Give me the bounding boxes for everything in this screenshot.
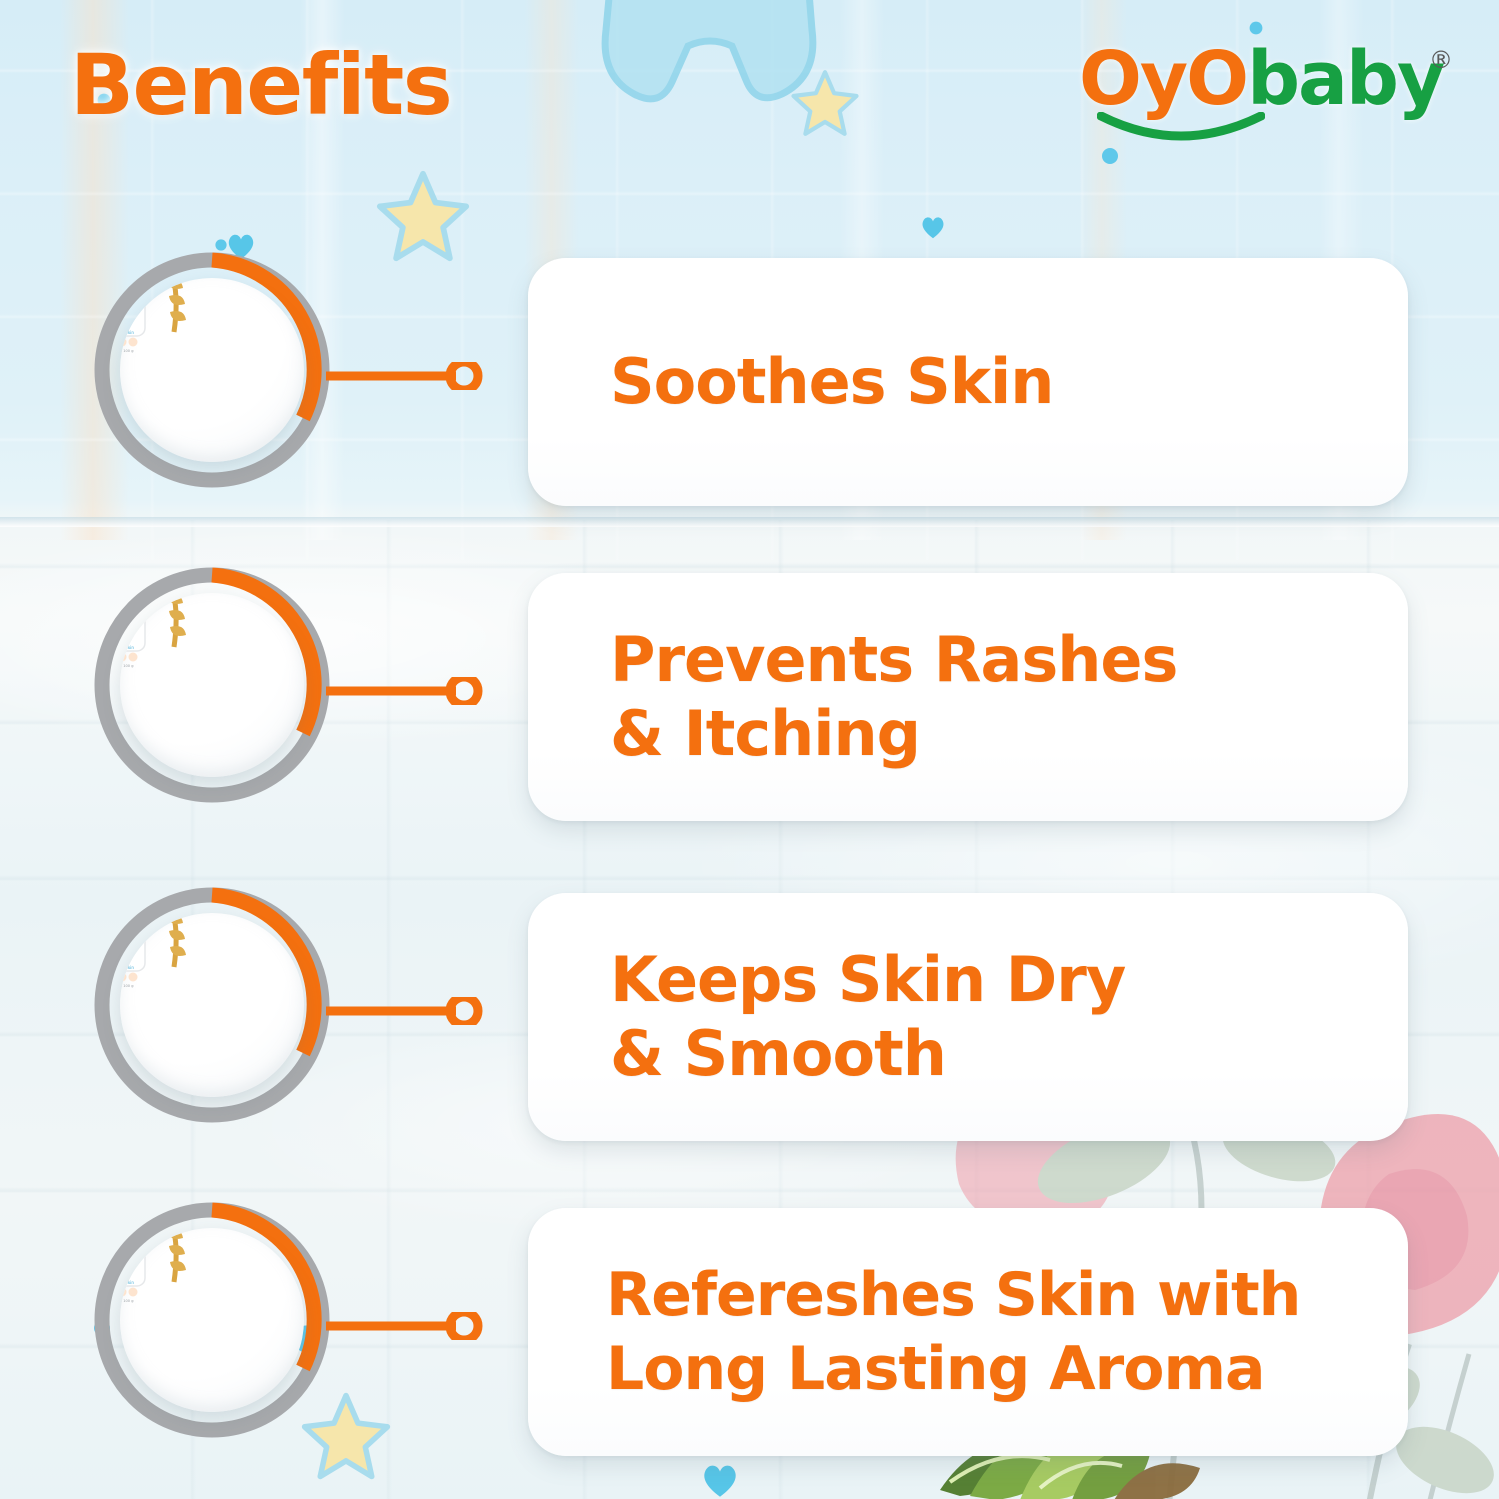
benefit-row: OyO Baby Powder with oats & herbs Talc F… — [0, 565, 1499, 825]
benefit-card[interactable]: Soothes Skin — [528, 258, 1408, 506]
heart-icon — [920, 215, 946, 244]
brand-logo: OyObaby ® — [1079, 40, 1451, 144]
benefit-text: Refereshes Skin with Long Lasting Aroma — [528, 1258, 1300, 1406]
benefit-badge: OyO b Baby Powder with oats & herbs Talc… — [88, 246, 336, 494]
benefit-text: Prevents Rashes & Itching — [528, 623, 1177, 771]
benefit-row: OyO Baby Powder with oats & herbs Talc F… — [0, 1200, 1499, 1460]
svg-text:Powder: Powder — [120, 920, 145, 933]
heart-icon — [700, 1462, 740, 1499]
benefit-badge: OyO Baby Powder with oats & herbs Talc F… — [88, 561, 336, 809]
product-bottle-circle: OyO Baby Powder with oats & herbs Talc F… — [120, 1228, 304, 1412]
svg-text:Powder: Powder — [120, 285, 145, 298]
svg-text:Net Wt. 100 g: Net Wt. 100 g — [120, 349, 133, 353]
baby-powder-bottle: OyO Baby Powder with oats & herbs Talc F… — [120, 1228, 206, 1314]
benefit-text: Keeps Skin Dry & Smooth — [528, 943, 1125, 1091]
svg-text:Talc Free: Talc Free — [120, 1274, 130, 1279]
benefit-card[interactable]: Refereshes Skin with Long Lasting Aroma — [528, 1208, 1408, 1456]
smile-swoosh-icon — [1097, 112, 1265, 153]
connector-dot-ring — [326, 1312, 486, 1336]
benefit-card[interactable]: Prevents Rashes & Itching — [528, 573, 1408, 821]
product-bottle-circle: OyO Baby Powder with oats & herbs Talc F… — [120, 593, 304, 777]
svg-text:Talc Free: Talc Free — [120, 639, 130, 644]
svg-text:Soothes Skin: Soothes Skin — [120, 965, 134, 970]
svg-text:Talc Free: Talc Free — [120, 959, 130, 964]
star-icon — [790, 68, 860, 143]
benefit-row: OyO b Baby Powder with oats & herbs Talc… — [0, 250, 1499, 510]
product-bottle-circle: OyO Baby Powder with oats & herbs Talc F… — [120, 913, 304, 1097]
svg-text:Net Wt. 100 g: Net Wt. 100 g — [120, 1299, 133, 1303]
benefit-card[interactable]: Keeps Skin Dry & Smooth — [528, 893, 1408, 1141]
svg-text:with oats & herbs: with oats & herbs — [120, 298, 142, 304]
svg-text:with oats & herbs: with oats & herbs — [120, 933, 142, 939]
benefit-badge: OyO Baby Powder with oats & herbs Talc F… — [88, 1196, 336, 1444]
svg-text:with oats & herbs: with oats & herbs — [120, 613, 142, 619]
svg-text:Talc Free: Talc Free — [120, 324, 130, 329]
svg-text:Powder: Powder — [120, 1235, 145, 1248]
baby-powder-bottle: OyO Baby Powder with oats & herbs Talc F… — [120, 913, 206, 999]
benefit-text: Soothes Skin — [528, 345, 1053, 419]
connector-dot-ring — [326, 362, 486, 386]
product-bottle-circle: OyO b Baby Powder with oats & herbs Talc… — [120, 278, 304, 462]
connector-dot-ring — [326, 677, 486, 701]
logo-baby-text: baby — [1247, 36, 1443, 122]
logo-oyo-text: OyO — [1079, 36, 1247, 122]
benefit-row: OyO Baby Powder with oats & herbs Talc F… — [0, 885, 1499, 1145]
svg-text:Soothes Skin: Soothes Skin — [120, 645, 134, 650]
svg-text:Net Wt. 100 g: Net Wt. 100 g — [120, 664, 133, 668]
benefit-badge: OyO Baby Powder with oats & herbs Talc F… — [88, 881, 336, 1129]
page-title: Benefits — [70, 36, 451, 134]
baby-powder-bottle: OyO b Baby Powder with oats & herbs Talc… — [120, 278, 206, 364]
background-seam — [0, 517, 1499, 527]
benefits-infographic: Benefits OyObaby ® — [0, 0, 1499, 1499]
svg-text:Soothes Skin: Soothes Skin — [120, 1280, 134, 1285]
registered-mark: ® — [1429, 46, 1453, 74]
baby-powder-bottle: OyO Baby Powder with oats & herbs Talc F… — [120, 593, 206, 679]
svg-text:Soothes Skin: Soothes Skin — [120, 330, 134, 335]
svg-text:Powder: Powder — [120, 600, 145, 613]
connector-dot-ring — [326, 997, 486, 1021]
svg-text:Net Wt. 100 g: Net Wt. 100 g — [120, 984, 133, 988]
svg-text:with oats & herbs: with oats & herbs — [120, 1248, 142, 1254]
